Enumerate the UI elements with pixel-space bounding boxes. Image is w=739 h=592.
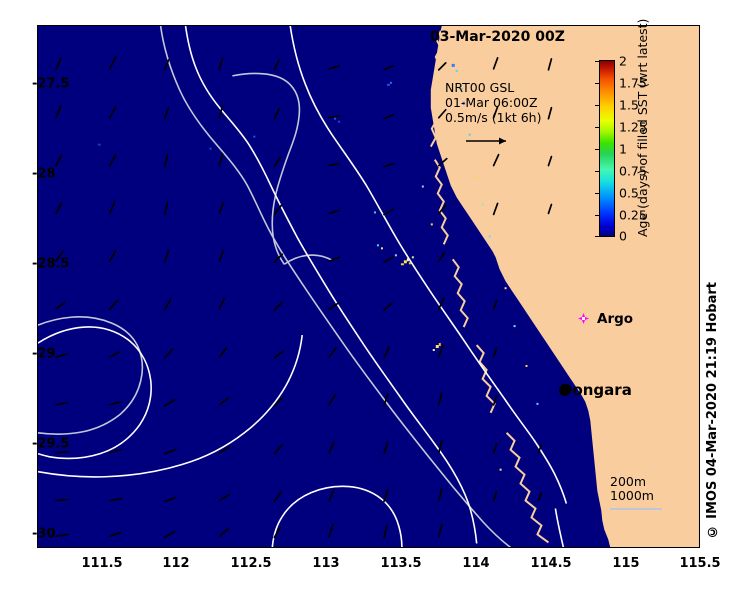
copyright-text: © IMOS 04-Mar-2020 21:19 Hobart [705, 282, 720, 538]
colorbar-tick [595, 149, 599, 150]
y-tick-right [699, 264, 700, 265]
y-axis-label: -30 [32, 527, 56, 542]
y-tick-right [699, 444, 700, 445]
x-axis-label: 115.5 [679, 556, 720, 571]
x-axis-label: 113 [312, 556, 339, 571]
argo-label: Argo [597, 311, 633, 327]
colorbar-tick [595, 83, 599, 84]
y-axis-label: -29 [32, 347, 56, 362]
gsl-annotation-block: NRT00 GSL 01-Mar 06:00Z 0.5m/s (1kt 6h) [445, 80, 541, 125]
contour-1000m-label: 1000m [610, 489, 654, 503]
dongara-label: Dongara [560, 381, 632, 399]
gsl-vector-scale: 0.5m/s (1kt 6h) [445, 110, 541, 125]
x-axis-label: 113.5 [380, 556, 421, 571]
map-title-date: 03-Mar-2020 00Z [430, 29, 565, 45]
y-tick-right [699, 84, 700, 85]
x-axis-label: 115 [612, 556, 639, 571]
y-tick-right [699, 354, 700, 355]
colorbar-label: 2 [619, 54, 627, 69]
x-tick [252, 25, 253, 26]
colorbar-tick [595, 171, 599, 172]
x-tick [177, 25, 178, 26]
x-tick [627, 25, 628, 26]
contour-legend-rule [610, 508, 662, 510]
colorbar-label: 0 [619, 229, 627, 244]
x-tick-bottom [402, 547, 403, 548]
bathymetry-contour-legend: 200m 1000m [610, 475, 654, 503]
x-tick-bottom [252, 547, 253, 548]
x-tick-bottom [103, 547, 104, 548]
colorbar-gradient [599, 60, 615, 237]
x-tick-bottom [177, 547, 178, 548]
x-axis-label: 112 [162, 556, 189, 571]
colorbar-tick [595, 105, 599, 106]
argo-marker-icon [578, 313, 589, 324]
x-tick [103, 25, 104, 26]
x-tick-bottom [627, 547, 628, 548]
colorbar-label: 1 [619, 142, 627, 157]
colorbar-title: Age (days) of filled SST (wrt latest) [635, 60, 650, 237]
colorbar-tick [595, 193, 599, 194]
x-tick [477, 25, 478, 26]
x-tick-bottom [477, 547, 478, 548]
x-tick [552, 25, 553, 26]
x-tick [402, 25, 403, 26]
x-axis-label: 114 [462, 556, 489, 571]
y-axis-label: -29.5 [32, 437, 69, 452]
y-axis-label: -28.5 [32, 257, 69, 272]
x-axis-label: 111.5 [81, 556, 122, 571]
x-axis-label: 112.5 [230, 556, 271, 571]
y-axis-label: -27.5 [32, 77, 69, 92]
y-tick-right [699, 174, 700, 175]
contour-200m-label: 200m [610, 475, 654, 489]
colorbar-tick [595, 61, 599, 62]
y-tick-right [699, 534, 700, 535]
x-tick [327, 25, 328, 26]
colorbar-tick [595, 127, 599, 128]
velocity-scale-arrow-icon [462, 130, 522, 152]
x-tick-bottom [552, 547, 553, 548]
gsl-time: 01-Mar 06:00Z [445, 95, 541, 110]
x-axis-label: 114.5 [530, 556, 571, 571]
x-tick-bottom [327, 547, 328, 548]
colorbar-tick [595, 215, 599, 216]
y-axis-label: -28 [32, 167, 56, 182]
gsl-source: NRT00 GSL [445, 80, 541, 95]
colorbar-tick [595, 236, 599, 237]
